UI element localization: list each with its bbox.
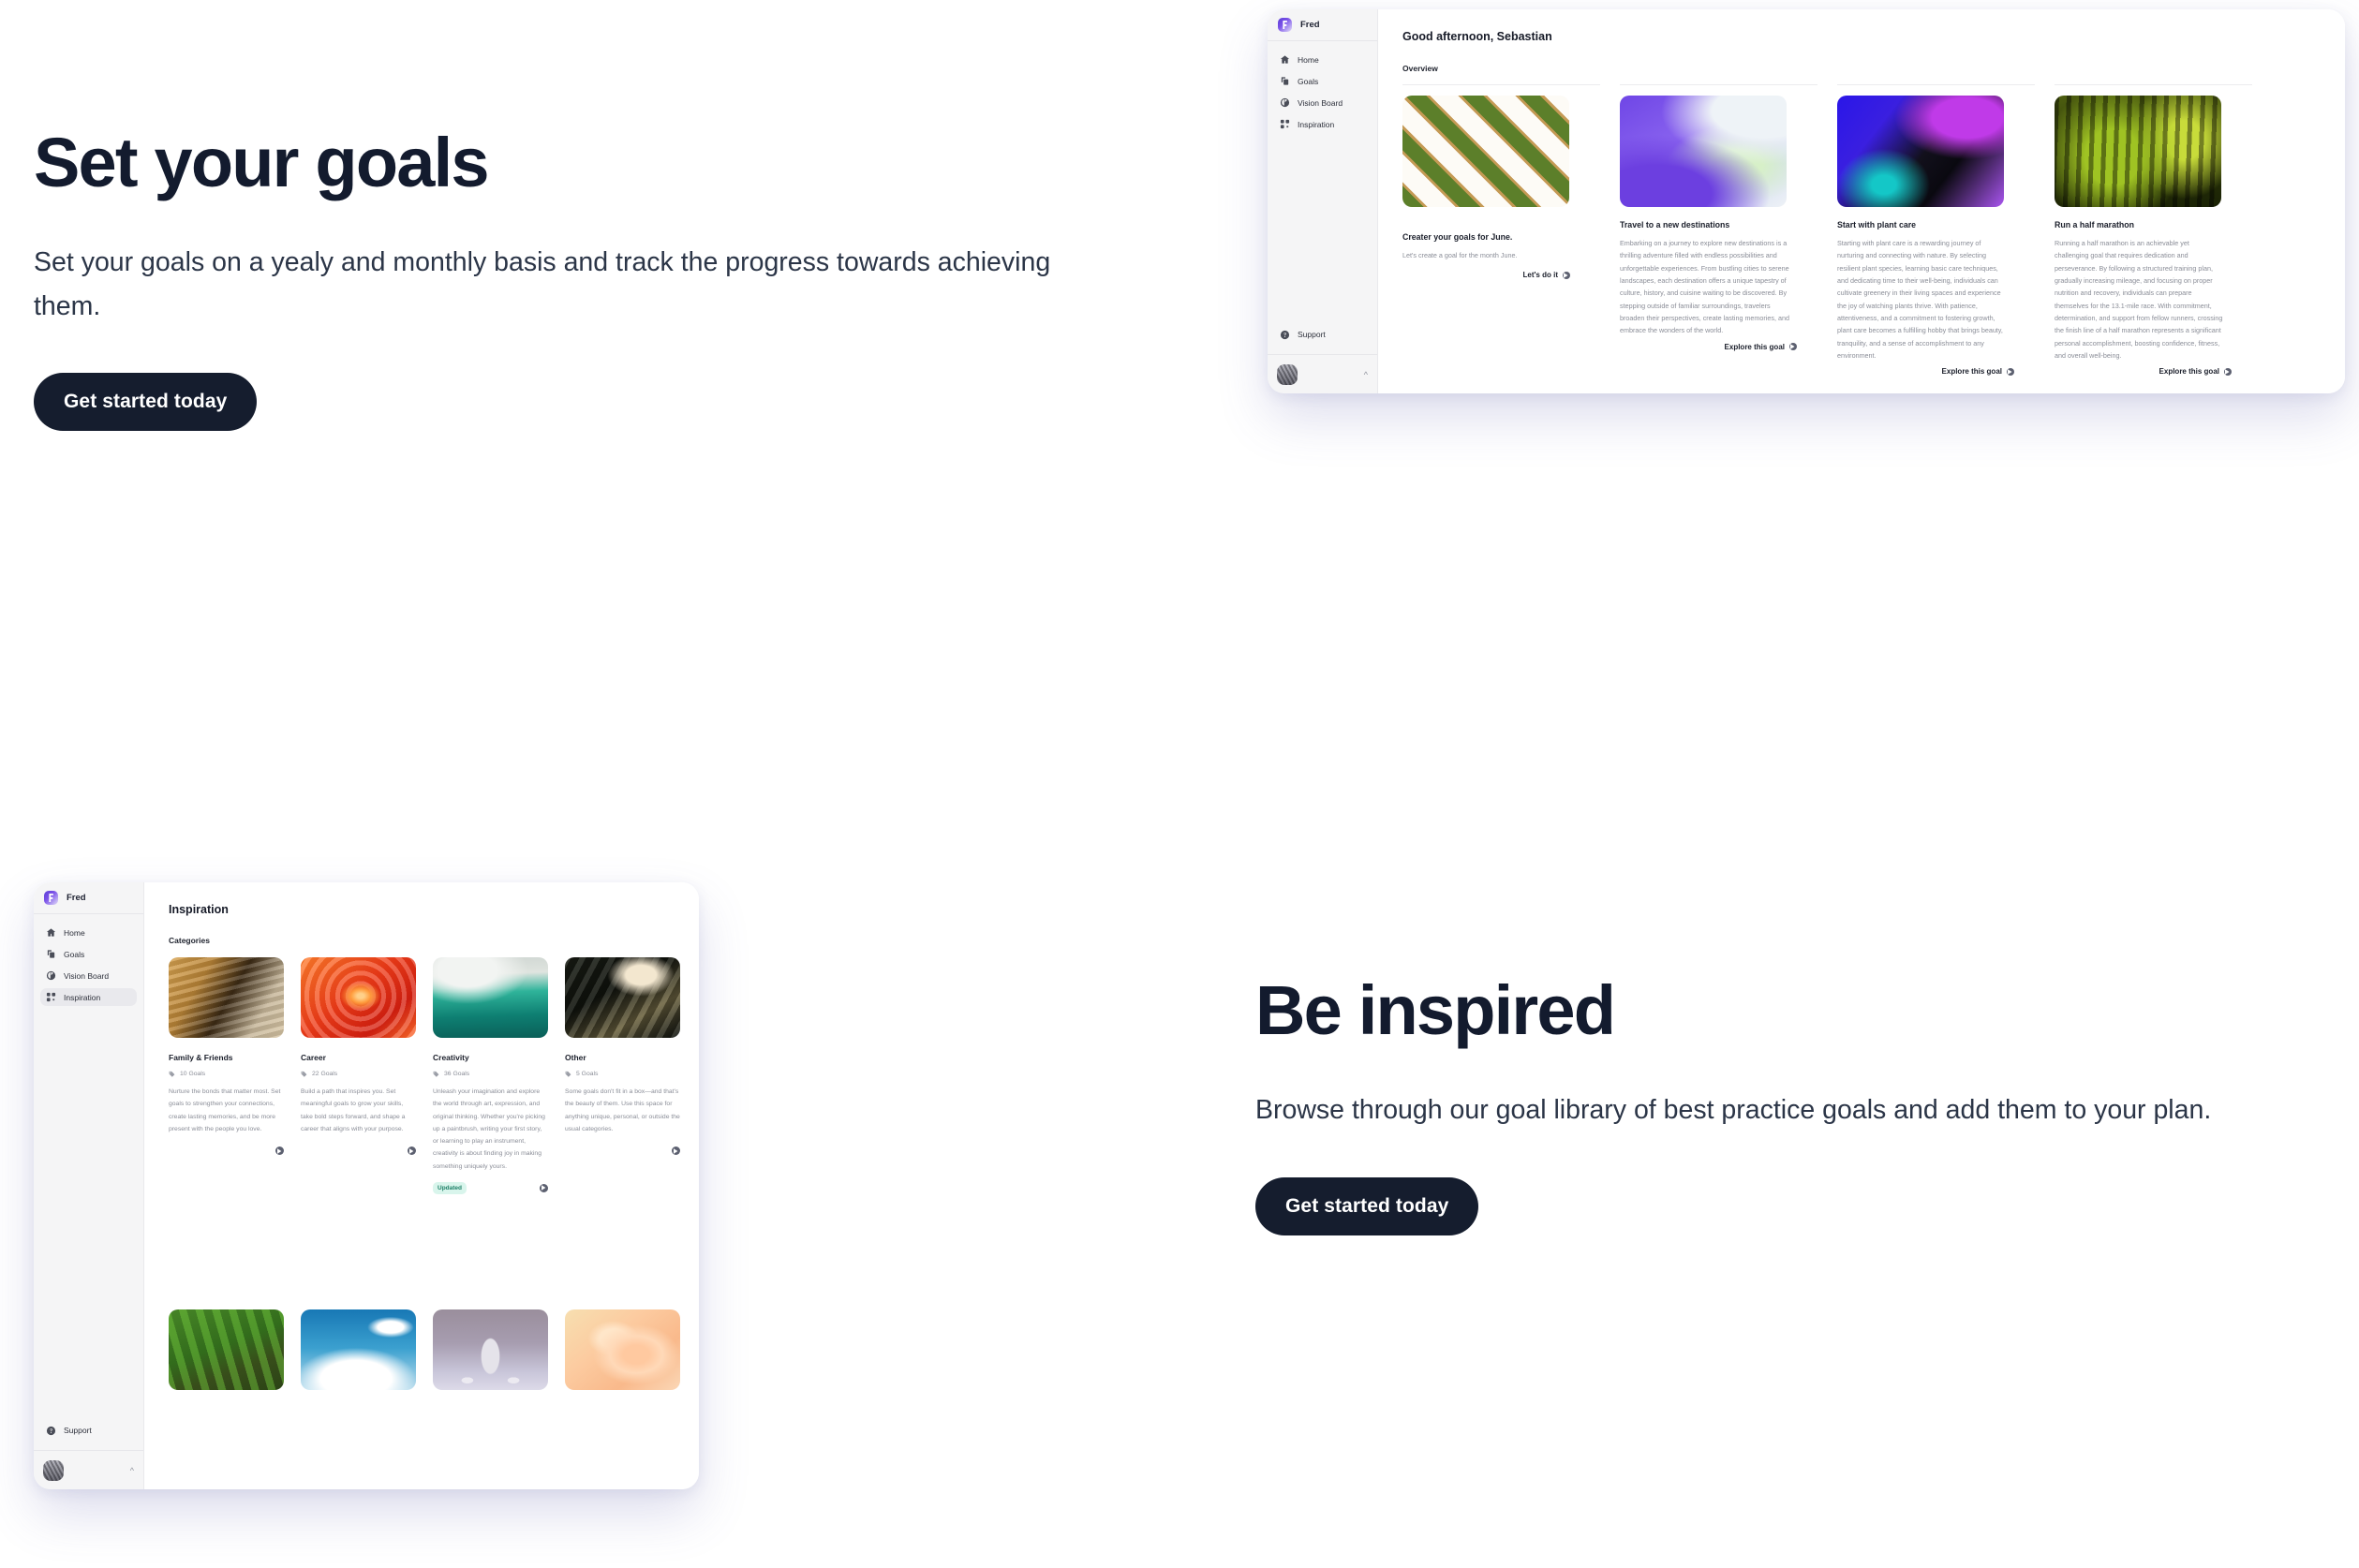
card-image — [565, 957, 680, 1038]
card-title: Travel to a new destinations — [1620, 220, 1817, 229]
tag-icon — [433, 1071, 439, 1077]
brand[interactable]: Fred — [34, 882, 143, 914]
arrow-circle-icon — [1563, 272, 1570, 279]
main-home: Good afternoon, Sebastian Overview Creat… — [1378, 9, 2345, 393]
card-body: Some goals don't fit in a box—and that's… — [565, 1086, 680, 1135]
goal-count-label: 10 Goals — [180, 1071, 205, 1077]
page-title-be-inspired: Be inspired — [1255, 974, 2333, 1047]
card-image-art — [433, 957, 548, 1038]
goal-count: 5 Goals — [565, 1071, 680, 1077]
card-body: Running a half marathon is an achievable… — [2055, 237, 2225, 362]
goal-card[interactable]: Run a half marathon Running a half marat… — [2055, 84, 2252, 375]
sidebar-spacer — [34, 1015, 143, 1422]
help-circle-icon — [46, 1426, 56, 1436]
sidebar-item-label: Inspiration — [1298, 120, 1334, 129]
app-window-inspiration: Fred Home Goals — [34, 882, 699, 1489]
fred-logo-icon — [1278, 18, 1292, 32]
card-cta-explore[interactable]: Explore this goal — [1942, 367, 2035, 376]
brand[interactable]: Fred — [1268, 9, 1377, 41]
category-grid: Family & Friends 10 Goals Nurture the bo… — [169, 957, 699, 1323]
goal-count: 10 Goals — [169, 1071, 284, 1077]
sidebar-spacer — [1268, 142, 1377, 326]
sidebar-item-vision-board[interactable]: Vision Board — [40, 967, 137, 984]
sidebar-item-label: Home — [64, 928, 85, 938]
card-image — [433, 957, 548, 1038]
chevron-up-icon[interactable]: ^ — [1364, 370, 1368, 379]
sidebar-item-home[interactable]: Home — [1274, 51, 1371, 68]
arrow-circle-icon[interactable] — [275, 1146, 284, 1155]
sidebar-item-label: Goals — [64, 950, 84, 959]
arrow-circle-icon[interactable] — [408, 1146, 416, 1155]
card-body: Starting with plant care is a rewarding … — [1837, 237, 2008, 362]
card-image — [301, 957, 416, 1038]
overview-card-grid: Creater your goals for June. Let's creat… — [1402, 84, 2345, 375]
sidebar-inspiration: Fred Home Goals — [34, 882, 144, 1489]
card-title: Family & Friends — [169, 1053, 284, 1062]
card-footer — [301, 1146, 416, 1155]
card-cta-label: Explore this goal — [1725, 343, 1785, 351]
fred-logo-icon — [44, 891, 58, 905]
card-body: Build a path that inspires you. Set mean… — [301, 1086, 416, 1135]
card-title: Career — [301, 1053, 416, 1062]
inspiration-icon — [46, 992, 56, 1002]
main-inspiration: Inspiration Categories Family & Friends … — [144, 882, 699, 1489]
card-image-art — [433, 1309, 548, 1390]
goal-count: 22 Goals — [301, 1071, 416, 1077]
goal-count-label: 22 Goals — [312, 1071, 337, 1077]
goal-count-label: 5 Goals — [576, 1071, 598, 1077]
avatar — [43, 1460, 64, 1481]
card-cta-label: Explore this goal — [1942, 367, 2002, 376]
avatar — [1277, 364, 1298, 385]
tag-icon — [169, 1071, 175, 1077]
arrow-circle-icon — [1789, 343, 1797, 350]
app-window-home: Fred Home Goals — [1268, 9, 2345, 393]
card-footer — [169, 1146, 284, 1155]
sidebar-item-label: Support — [1298, 330, 1326, 339]
card-image — [1402, 96, 1569, 207]
landing-page: Set your goals Set your goals on a yealy… — [0, 0, 2359, 1568]
card-footer: Updated — [433, 1182, 548, 1194]
sidebar-item-inspiration[interactable]: Inspiration — [1274, 115, 1371, 133]
card-image-art — [301, 957, 416, 1038]
card-cta-label: Explore this goal — [2159, 367, 2219, 376]
card-image[interactable] — [433, 1309, 548, 1390]
card-image — [1620, 96, 1787, 207]
vision-board-icon — [1280, 97, 1290, 108]
home-icon — [46, 927, 56, 938]
card-title: Other — [565, 1053, 680, 1062]
support-row[interactable]: Support — [34, 1422, 143, 1450]
help-circle-icon — [1280, 330, 1290, 340]
card-image-art — [169, 957, 284, 1038]
sidebar-account[interactable]: ^ — [34, 1450, 143, 1489]
sidebar-account[interactable]: ^ — [1268, 354, 1377, 393]
sidebar-item-support[interactable]: Support — [1280, 326, 1365, 343]
card-image-art — [1620, 96, 1787, 207]
categories-label: Categories — [169, 936, 699, 945]
overview-label: Overview — [1402, 64, 2345, 73]
sidebar-item-label: Goals — [1298, 77, 1318, 86]
category-card[interactable]: Other 5 Goals Some goals don't fit in a … — [565, 957, 680, 1323]
get-started-button-bottom[interactable]: Get started today — [1255, 1177, 1478, 1235]
goal-count-label: 36 Goals — [444, 1071, 469, 1077]
sidebar-nav-inspiration: Home Goals Vision Board — [34, 914, 143, 1015]
sidebar-item-vision-board[interactable]: Vision Board — [1274, 94, 1371, 111]
category-card[interactable]: Family & Friends 10 Goals Nurture the bo… — [169, 957, 284, 1323]
card-image-art — [2055, 96, 2221, 207]
card-cta-explore[interactable]: Explore this goal — [1725, 343, 1817, 351]
card-image-art — [565, 957, 680, 1038]
tag-icon — [301, 1071, 307, 1077]
page-title-inspiration: Inspiration — [169, 903, 699, 916]
card-image[interactable] — [565, 1309, 680, 1390]
home-icon — [1280, 54, 1290, 65]
sidebar-item-label: Vision Board — [64, 971, 109, 981]
card-image — [2055, 96, 2221, 207]
sidebar-item-goals[interactable]: Goals — [40, 945, 137, 963]
card-image[interactable] — [169, 1309, 284, 1390]
section-subtitle-set-your-goals: Set your goals on a yealy and monthly ba… — [34, 241, 1111, 327]
card-cta-label: Let's do it — [1523, 271, 1558, 279]
brand-name: Fred — [1300, 20, 1320, 30]
section-be-inspired: Be inspired Browse through our goal libr… — [1255, 974, 2333, 1235]
sidebar-home: Fred Home Goals — [1268, 9, 1378, 393]
sidebar-item-label: Home — [1298, 55, 1319, 65]
card-image-art — [169, 1309, 284, 1390]
card-image-art — [1837, 96, 2004, 207]
arrow-circle-icon[interactable] — [540, 1184, 548, 1192]
support-row[interactable]: Support — [1268, 326, 1377, 354]
card-title: Creativity — [433, 1053, 548, 1062]
category-grid-row-2 — [169, 1309, 699, 1390]
sidebar-nav-home: Home Goals Vision Board — [1268, 41, 1377, 142]
card-title: Run a half marathon — [2055, 220, 2252, 229]
goals-icon — [1280, 76, 1290, 86]
card-body: Embarking on a journey to explore new de… — [1620, 237, 1790, 337]
card-cta-lets-do-it[interactable]: Let's do it — [1523, 271, 1600, 279]
get-started-button-top[interactable]: Get started today — [34, 373, 257, 431]
section-subtitle-be-inspired: Browse through our goal library of best … — [1255, 1088, 2333, 1132]
card-title: Start with plant care — [1837, 220, 2035, 229]
tag-icon — [565, 1071, 571, 1077]
sidebar-item-label: Support — [64, 1426, 92, 1435]
chevron-up-icon[interactable]: ^ — [130, 1466, 134, 1475]
category-card[interactable]: Career 22 Goals Build a path that inspir… — [301, 957, 416, 1323]
sidebar-item-goals[interactable]: Goals — [1274, 72, 1371, 90]
card-cta-explore[interactable]: Explore this goal — [2159, 367, 2252, 376]
sidebar-item-support[interactable]: Support — [46, 1422, 131, 1439]
vision-board-icon — [46, 970, 56, 981]
card-image — [169, 957, 284, 1038]
category-card[interactable]: Creativity 36 Goals Unleash your imagina… — [433, 957, 548, 1323]
card-image-art — [301, 1309, 416, 1390]
goal-card[interactable]: Travel to a new destinations Embarking o… — [1620, 84, 1817, 375]
arrow-circle-icon — [2224, 368, 2232, 376]
card-image-art — [1402, 96, 1569, 207]
card-body: Unleash your imagination and explore the… — [433, 1086, 548, 1173]
inspiration-icon — [1280, 119, 1290, 129]
goal-card[interactable]: Start with plant care Starting with plan… — [1837, 84, 2035, 375]
sidebar-item-inspiration[interactable]: Inspiration — [40, 988, 137, 1006]
card-body: Let's create a goal for the month June. — [1402, 249, 1571, 261]
card-title: Creater your goals for June. — [1402, 232, 1600, 242]
goal-card[interactable]: Creater your goals for June. Let's creat… — [1402, 84, 1600, 375]
goal-count: 36 Goals — [433, 1071, 548, 1077]
sidebar-item-home[interactable]: Home — [40, 924, 137, 941]
goals-icon — [46, 949, 56, 959]
brand-name: Fred — [67, 893, 86, 903]
card-body: Nurture the bonds that matter most. Set … — [169, 1086, 284, 1135]
arrow-circle-icon — [2007, 368, 2014, 376]
sidebar-item-label: Vision Board — [1298, 98, 1343, 108]
page-title-set-your-goals: Set your goals — [34, 126, 1158, 200]
arrow-circle-icon[interactable] — [672, 1146, 680, 1155]
card-image-art — [565, 1309, 680, 1390]
greeting: Good afternoon, Sebastian — [1402, 30, 2345, 43]
status-badge: Updated — [433, 1182, 467, 1194]
sidebar-item-label: Inspiration — [64, 993, 100, 1002]
card-image — [1837, 96, 2004, 207]
card-image[interactable] — [301, 1309, 416, 1390]
card-footer — [565, 1146, 680, 1155]
section-set-your-goals: Set your goals Set your goals on a yealy… — [34, 126, 1158, 431]
